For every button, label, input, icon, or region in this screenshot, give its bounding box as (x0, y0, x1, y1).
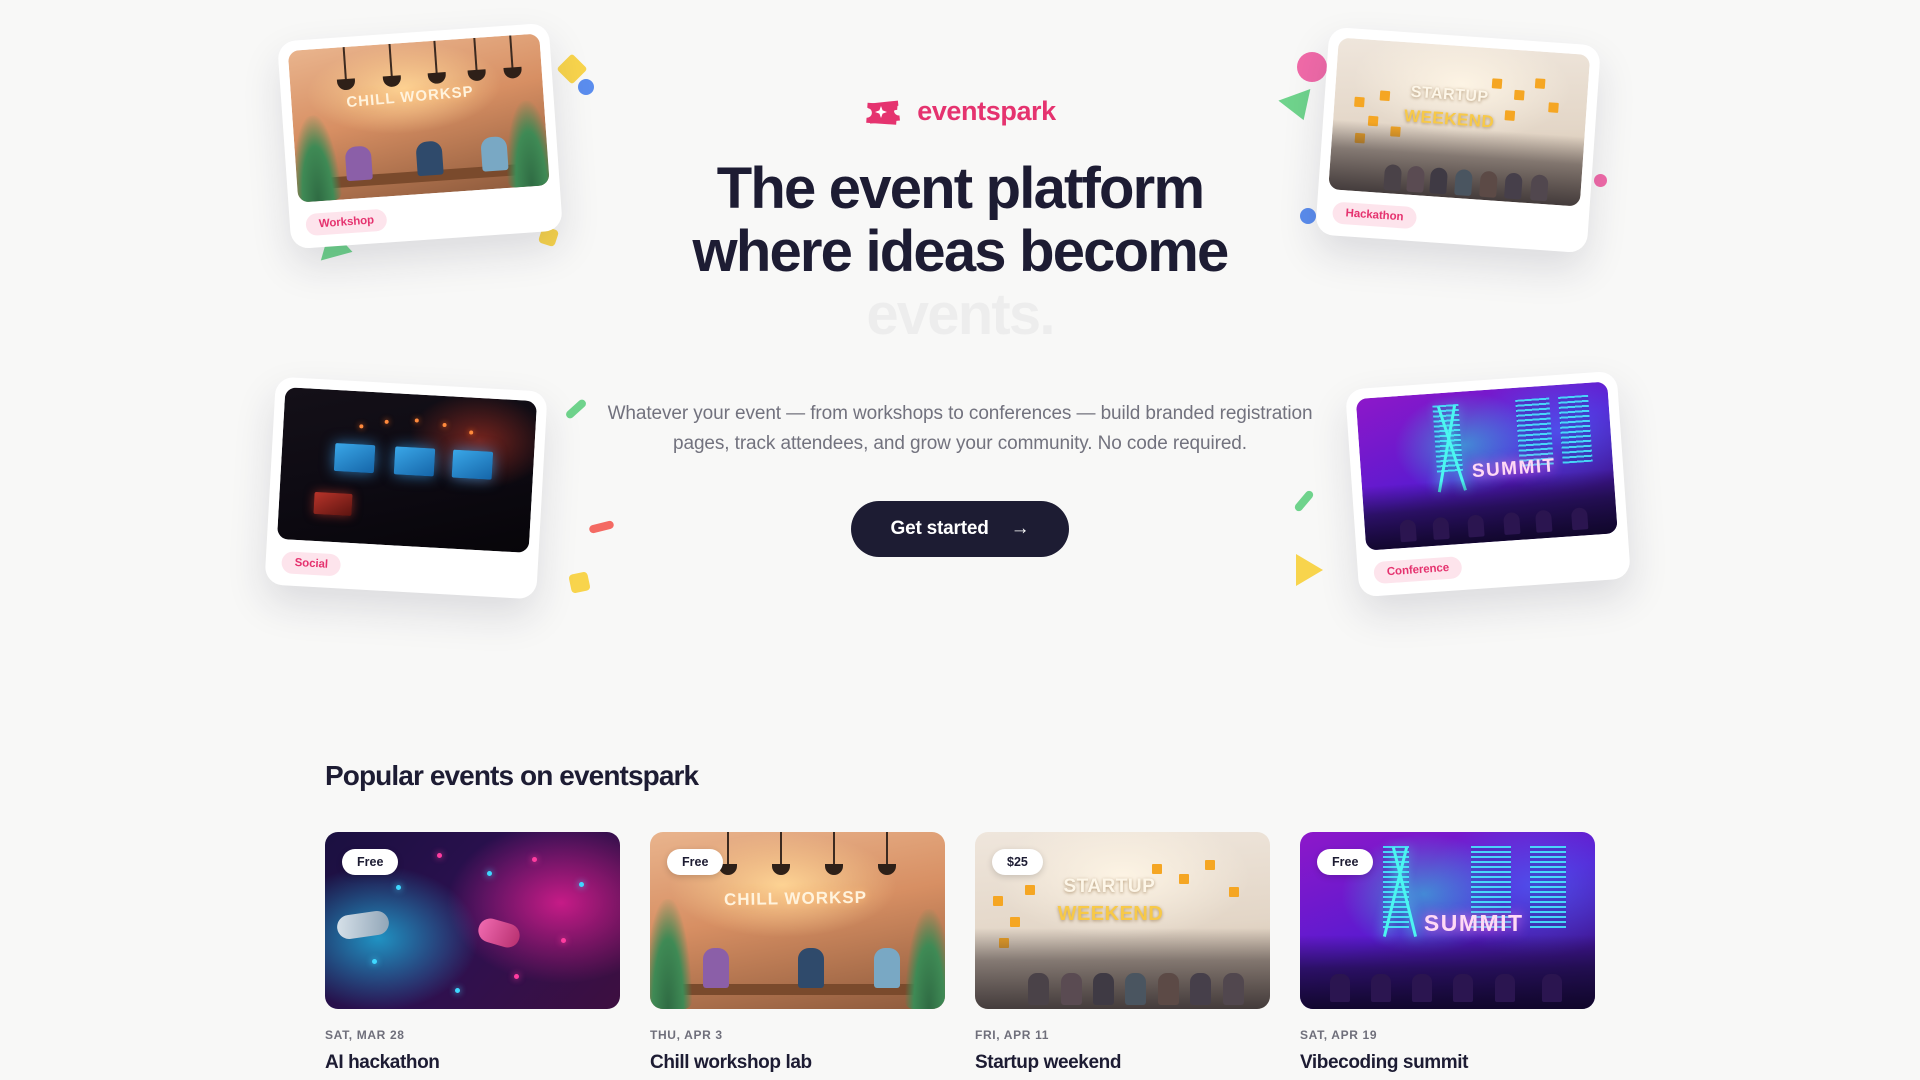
headline-line-1: The event platform (580, 157, 1340, 220)
hero-card-workshop-category: Workshop (305, 209, 388, 237)
brand-logo[interactable]: eventspark (580, 96, 1340, 127)
ticket-sparkle-icon (864, 99, 906, 125)
event-date: THU, APR 3 (650, 1028, 945, 1042)
price-badge: Free (667, 849, 723, 875)
decor-yellow-square-lowleft (568, 571, 591, 594)
hero-card-hackathon-image: STARTUP WEEKEND (1328, 37, 1590, 206)
event-title: Startup weekend (975, 1051, 1270, 1076)
get-started-label: Get started (891, 518, 989, 540)
hero-card-conference-category: Conference (1373, 556, 1463, 584)
hero-card-social-category: Social (281, 551, 341, 576)
event-card[interactable]: Free CHILL WORKSP (650, 832, 945, 1076)
price-badge: Free (1317, 849, 1373, 875)
event-card[interactable]: $25 STARTUP WEEKEND (975, 832, 1270, 1076)
hero-card-social[interactable]: Social (264, 377, 547, 600)
headline-line-2: where ideas become (580, 220, 1340, 283)
event-card[interactable]: Free SUMMIT (1300, 832, 1595, 1076)
decor-pink-dot-right (1594, 174, 1607, 187)
event-title: Vibecoding summit (1300, 1051, 1595, 1076)
hero-card-hackathon[interactable]: STARTUP WEEKEND Hackathon (1315, 27, 1601, 253)
event-thumbnail: Free CHILL WORKSP (650, 832, 945, 1009)
page-title: The event platform where ideas become ev… (580, 157, 1340, 347)
hero-card-social-image (277, 387, 537, 553)
section-title: Popular events on eventspark (325, 760, 1595, 792)
popular-events-section: Popular events on eventspark Free (0, 760, 1920, 1076)
event-date: SAT, MAR 28 (325, 1028, 620, 1042)
event-title: AI hackathon (325, 1051, 620, 1076)
event-card[interactable]: Free (325, 832, 620, 1076)
event-thumbnail: $25 STARTUP WEEKEND (975, 832, 1270, 1009)
event-thumbnail: Free SUMMIT (1300, 832, 1595, 1009)
event-thumbnail: Free (325, 832, 620, 1009)
arrow-right-icon: → (1011, 519, 1030, 538)
get-started-button[interactable]: Get started → (851, 501, 1070, 557)
decor-pink-circle-right (1297, 52, 1327, 82)
price-badge: Free (342, 849, 398, 875)
hero-content: eventspark The event platform where idea… (580, 96, 1340, 557)
brand-name: eventspark (917, 96, 1056, 127)
decor-blue-circle (578, 79, 594, 95)
event-date: SAT, APR 19 (1300, 1028, 1595, 1042)
landing-page: CHILL WORKSP Workshop (0, 0, 1920, 1080)
hero-card-conference[interactable]: SUMMIT Conference (1345, 371, 1631, 597)
hero-card-workshop[interactable]: CHILL WORKSP Workshop (277, 23, 563, 249)
decor-yellow-triangle-lowright (1296, 554, 1323, 586)
event-date: FRI, APR 11 (975, 1028, 1270, 1042)
events-grid: Free (325, 832, 1595, 1076)
hero-card-conference-image: SUMMIT (1356, 381, 1618, 550)
hero-card-hackathon-category: Hackathon (1332, 201, 1417, 229)
hero-subtitle: Whatever your event — from workshops to … (580, 399, 1340, 459)
event-title: Chill workshop lab (650, 1051, 945, 1076)
hero-card-workshop-image: CHILL WORKSP (288, 33, 550, 202)
headline-line-3: events. (580, 283, 1340, 346)
price-badge: $25 (992, 849, 1043, 875)
hero-section: CHILL WORKSP Workshop (0, 0, 1920, 760)
